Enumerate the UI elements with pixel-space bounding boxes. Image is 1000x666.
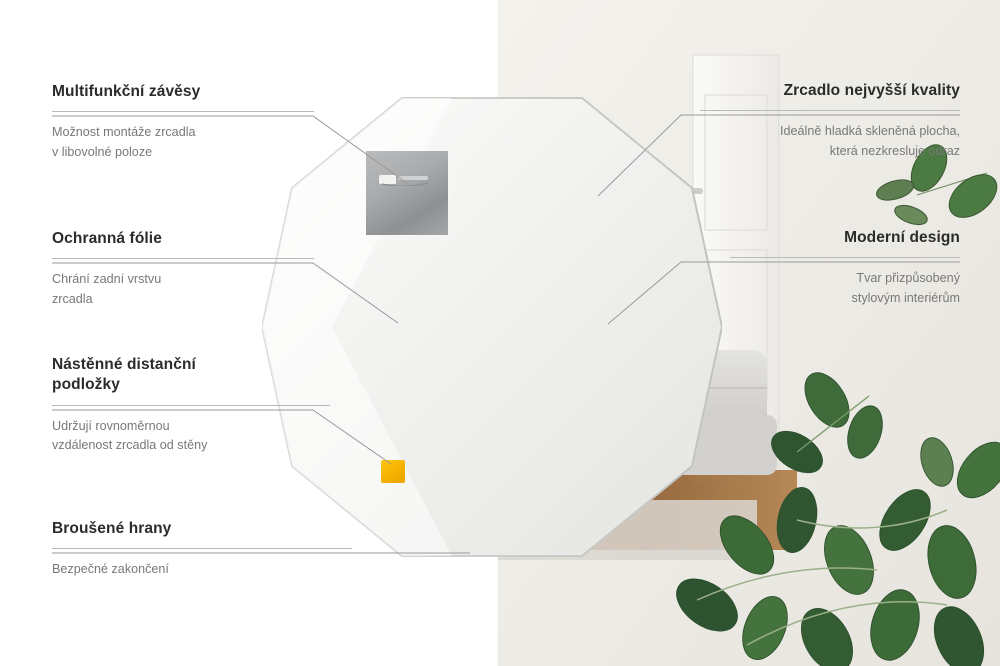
callout-quality-rule [700,110,960,111]
callout-edges: Broušené hrany Bezpečné zakončení [52,519,352,580]
callout-foil-body: Chrání zadní vrstvu zrcadla [52,270,314,309]
mirror-shape [262,92,722,562]
callout-edges-title: Broušené hrany [52,519,352,539]
callout-spacers-title: Nástěnné distanční podložky [52,355,330,396]
callout-foil: Ochranná fólie Chrání zadní vrstvu zrcad… [52,229,314,309]
callout-hangers-rule [52,111,314,112]
callout-hangers: Multifunkční závěsy Možnost montáže zrca… [52,82,314,162]
callout-spacers-body: Udržují rovnoměrnou vzdálenost zrcadla o… [52,417,330,456]
callout-design-body: Tvar přizpůsobený stylovým interiérům [730,269,960,308]
callout-design-rule [730,257,960,258]
callout-spacers-rule [52,405,330,406]
callout-design-title: Moderní design [730,228,960,248]
callout-foil-rule [52,258,314,259]
mirror-product [262,92,722,562]
callout-edges-body: Bezpečné zakončení [52,560,352,580]
callout-hangers-body: Možnost montáže zrcadla v libovolné polo… [52,123,314,162]
hanger-bracket-icon [379,174,431,186]
callout-foil-title: Ochranná fólie [52,229,314,249]
callout-spacers: Nástěnné distanční podložky Udržují rovn… [52,355,330,456]
mirror-hanger-detail [366,151,448,235]
callout-hangers-title: Multifunkční závěsy [52,82,314,102]
callout-design: Moderní design Tvar přizpůsobený stylový… [730,228,960,308]
infographic-stage: Multifunkční závěsy Možnost montáže zrca… [0,0,1000,666]
yellow-spacer-pad [381,460,405,483]
callout-quality-body: Ideálně hladká skleněná plocha, která ne… [700,122,960,161]
callout-quality-title: Zrcadlo nejvyšší kvality [700,81,960,101]
callout-quality: Zrcadlo nejvyšší kvality Ideálně hladká … [700,81,960,161]
callout-edges-rule [52,548,352,549]
